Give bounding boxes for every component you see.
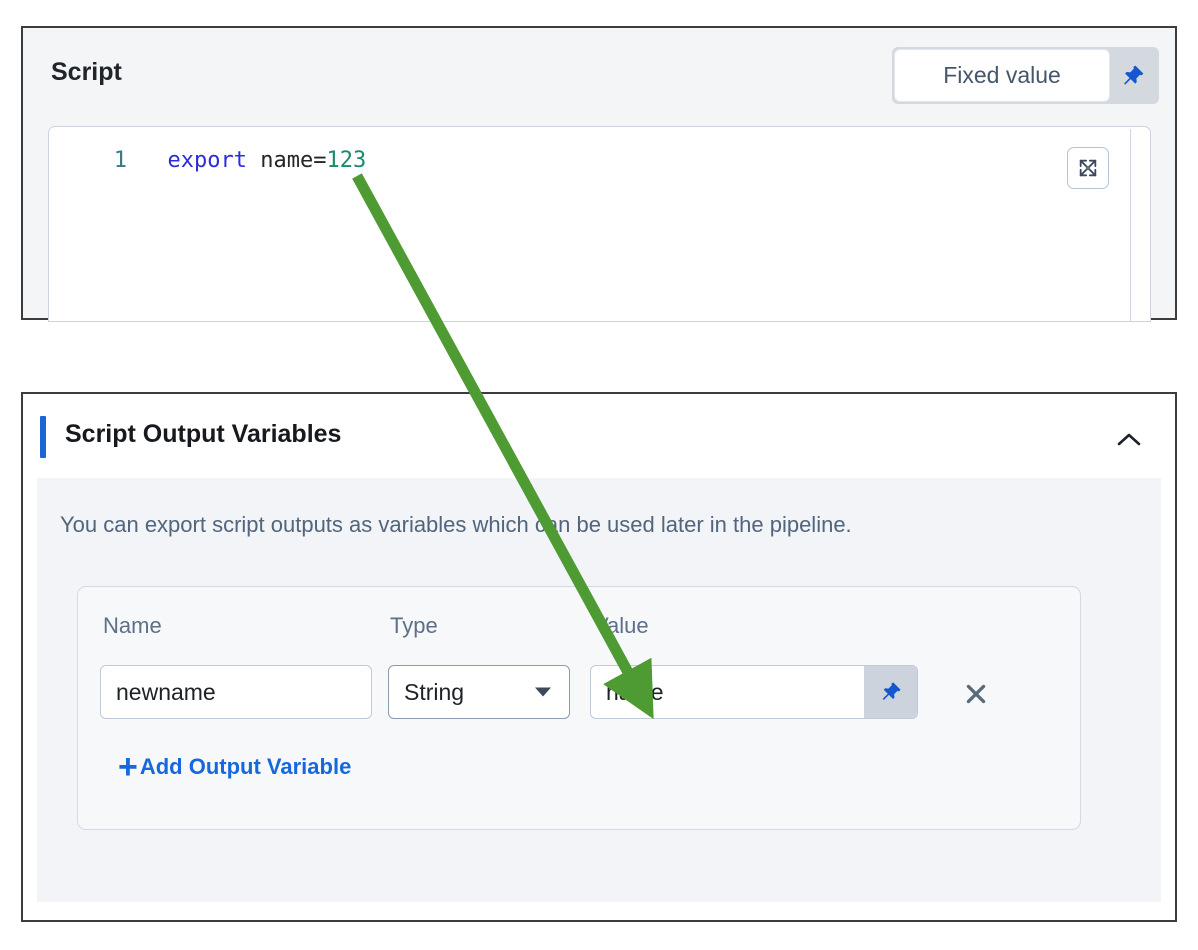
section-header: Script Output Variables — [23, 394, 1175, 478]
column-header-name: Name — [103, 613, 162, 639]
expand-fullscreen-icon[interactable] — [1067, 147, 1109, 189]
screenshot-root: Script Fixed value 1 export name= 123 — [0, 0, 1198, 950]
variable-value-field[interactable]: name — [590, 665, 918, 719]
variable-type-select[interactable]: String — [388, 665, 570, 719]
chevron-down-icon — [535, 688, 551, 697]
pushpin-icon[interactable] — [1111, 49, 1155, 102]
column-header-value: Value — [594, 613, 649, 639]
output-variable-card: Name Type Value newname String name — [77, 586, 1081, 830]
section-description: You can export script outputs as variabl… — [60, 512, 852, 538]
code-keyword-export: export — [168, 148, 247, 173]
editor-scrollbar[interactable] — [1130, 129, 1131, 321]
output-variable-row: newname String name — [78, 665, 1080, 723]
script-panel-title: Script — [51, 58, 122, 87]
section-title: Script Output Variables — [65, 420, 341, 449]
line-number: 1 — [49, 148, 141, 173]
script-code-editor[interactable]: 1 export name= 123 — [48, 126, 1151, 322]
add-output-variable-label: Add Output Variable — [140, 754, 351, 780]
pushpin-icon[interactable] — [864, 666, 917, 718]
section-accent-bar — [40, 416, 46, 458]
add-output-variable-button[interactable]: + Add Output Variable — [118, 750, 351, 784]
script-panel: Script Fixed value 1 export name= 123 — [21, 26, 1177, 320]
section-body: You can export script outputs as variabl… — [37, 478, 1161, 902]
code-variable-assignment: name= — [247, 148, 326, 173]
plus-icon: + — [118, 750, 138, 784]
column-headers: Name Type Value — [78, 613, 1080, 647]
close-x-icon[interactable] — [958, 676, 994, 712]
script-panel-header: Script Fixed value — [23, 28, 1175, 126]
script-output-variables-panel: Script Output Variables You can export s… — [21, 392, 1177, 922]
code-number-literal: 123 — [326, 148, 366, 173]
code-line-1: 1 export name= 123 — [49, 145, 366, 175]
variable-type-value: String — [404, 679, 464, 706]
column-header-type: Type — [390, 613, 438, 639]
value-mode-group: Fixed value — [892, 47, 1159, 104]
chevron-up-icon[interactable] — [1109, 422, 1149, 458]
variable-name-input[interactable]: newname — [100, 665, 372, 719]
variable-value-input[interactable]: name — [591, 666, 864, 718]
code-indent — [141, 148, 168, 173]
fixed-value-button[interactable]: Fixed value — [894, 49, 1110, 102]
